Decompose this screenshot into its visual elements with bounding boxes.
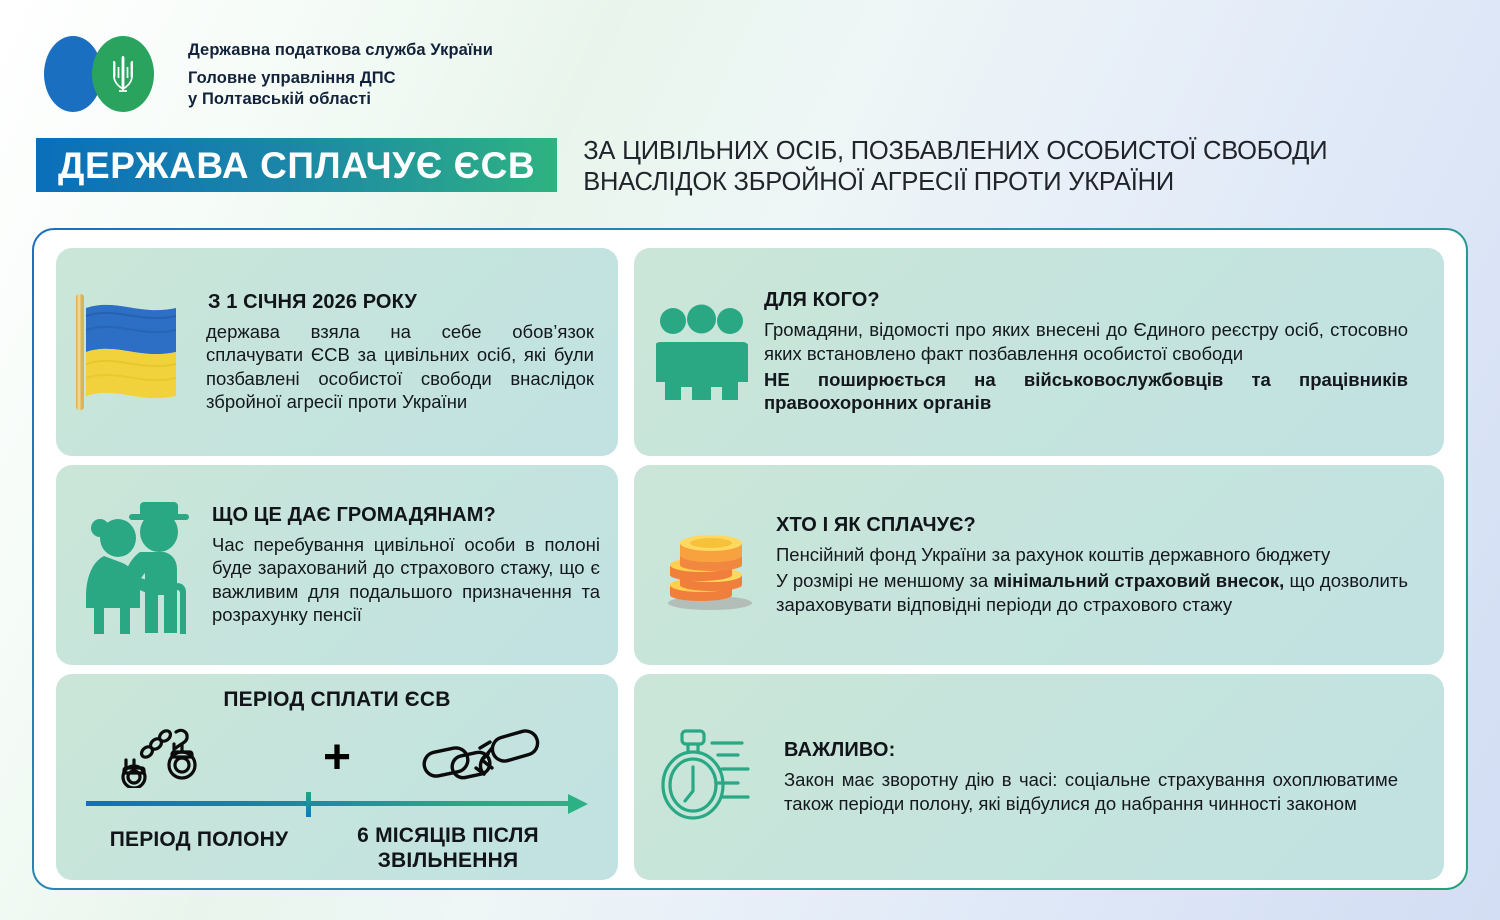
broken-chain-icon: [418, 724, 546, 795]
card-who-and-how-pays: ХТО І ЯК СПЛАЧУЄ? Пенсійний фонд України…: [634, 465, 1444, 665]
three-people-icon: [656, 304, 748, 400]
card-paragraph: Час перебування цивільної особи в полоні…: [212, 533, 600, 627]
mixed-bold: мінімальний страховий внесок,: [993, 570, 1284, 591]
card-paragraph-mixed: У розмірі не меншому за мінімальний стра…: [776, 569, 1408, 616]
coins-stack-icon: [656, 517, 760, 613]
timeline-label-right: 6 МІСЯЦІВ ПІСЛЯ ЗВІЛЬНЕННЯ: [324, 824, 600, 874]
card-payment-period-timeline: ПЕРІОД СПЛАТИ ЄСВ: [56, 674, 618, 880]
timeline-tick: [306, 792, 311, 817]
card-title: ХТО І ЯК СПЛАЧУЄ?: [776, 514, 1408, 537]
card-title: З 1 СІЧНЯ 2026 РОКУ: [208, 291, 594, 314]
card-what-it-gives: ЩО ЦЕ ДАЄ ГРОМАДЯНАМ? Час перебування ци…: [56, 465, 618, 665]
timeline-axis: [78, 792, 596, 814]
card-for-whom: ДЛЯ КОГО? Громадяни, відомості про яких …: [634, 248, 1444, 456]
timeline-line: [86, 801, 568, 806]
timeline-title: ПЕРІОД СПЛАТИ ЄСВ: [74, 688, 600, 712]
logo: [44, 36, 174, 112]
card-paragraph: Громадяни, відомості про яких внесені до…: [764, 318, 1408, 365]
org-name-line-2: Головне управління ДПС: [188, 68, 493, 89]
plus-sign: +: [323, 734, 351, 782]
logo-green-ellipse-icon: [92, 36, 154, 112]
elderly-couple-icon: [66, 490, 198, 640]
card-paragraph-bold: НЕ поширюється на військовослужбовців та…: [764, 368, 1408, 415]
title-badge: ДЕРЖАВА СПЛАЧУЄ ЄСВ: [36, 138, 557, 192]
card-title: ДЛЯ КОГО?: [764, 289, 1408, 312]
org-name: Державна податкова служба України Головн…: [188, 38, 493, 110]
org-name-line-1: Державна податкова служба України: [188, 40, 493, 61]
card-title: ВАЖЛИВО:: [784, 739, 1398, 762]
cards-grid: З 1 СІЧНЯ 2026 РОКУ держава взяла на себ…: [34, 230, 1466, 888]
timeline-arrowhead-icon: [568, 794, 588, 814]
card-title: ЩО ЦЕ ДАЄ ГРОМАДЯНАМ?: [212, 504, 600, 527]
page-subtitle: ЗА ЦИВІЛЬНИХ ОСІБ, ПОЗБАВЛЕНИХ ОСОБИСТОЇ…: [583, 136, 1327, 197]
card-paragraph: держава взяла на себе обов’язок сплачува…: [206, 320, 594, 414]
mixed-before: У розмірі не меншому за: [776, 570, 993, 591]
handcuffs-icon: [104, 722, 212, 793]
card-paragraph: Закон має зворотну дію в часі: соціальне…: [784, 768, 1398, 815]
ukraine-flag-icon: [68, 286, 190, 418]
card-from-january-2026: З 1 СІЧНЯ 2026 РОКУ держава взяла на себ…: [56, 248, 618, 456]
timeline-label-left: ПЕРІОД ПОЛОНУ: [74, 824, 324, 874]
card-paragraph: Пенсійний фонд України за рахунок коштів…: [776, 543, 1408, 566]
page-title: ДЕРЖАВА СПЛАЧУЄ ЄСВ: [58, 147, 535, 184]
org-header: Державна податкова служба України Головн…: [44, 36, 493, 112]
content-panel-inner: З 1 СІЧНЯ 2026 РОКУ держава взяла на себ…: [34, 230, 1466, 888]
stopwatch-icon: [660, 725, 764, 829]
content-panel: З 1 СІЧНЯ 2026 РОКУ держава взяла на себ…: [32, 228, 1468, 890]
org-name-line-3: у Полтавській області: [188, 89, 493, 110]
card-important: ВАЖЛИВО: Закон має зворотну дію в часі: …: [634, 674, 1444, 880]
title-bar: ДЕРЖАВА СПЛАЧУЄ ЄСВ ЗА ЦИВІЛЬНИХ ОСІБ, П…: [0, 138, 1500, 210]
